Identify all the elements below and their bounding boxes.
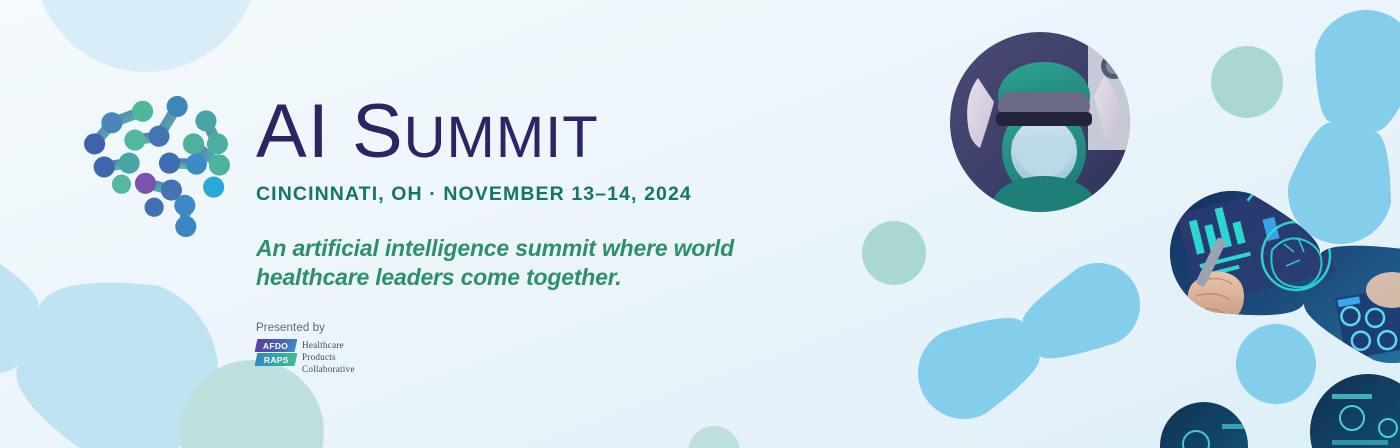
ai-summit-brain-network-logo bbox=[82, 94, 232, 238]
logo-node bbox=[112, 175, 131, 194]
presented-by-label: Presented by bbox=[256, 322, 916, 334]
logo-node bbox=[183, 133, 204, 154]
logo-node bbox=[94, 156, 115, 177]
logo-node bbox=[174, 195, 195, 216]
logo-node bbox=[148, 126, 169, 147]
logo-node bbox=[101, 112, 122, 133]
logo-node bbox=[132, 101, 153, 122]
presenter-name-line1: Healthcare bbox=[302, 340, 355, 352]
photo-surgeon-vr-headset bbox=[950, 32, 1134, 236]
ai-summit-banner: AI SUMMIT CINCINNATI, OH · NOVEMBER 13–1… bbox=[0, 0, 1400, 448]
title-summit-rest: UMMIT bbox=[404, 105, 599, 170]
logo-node bbox=[195, 110, 216, 131]
logo-node bbox=[167, 96, 188, 117]
logo-node bbox=[135, 173, 156, 194]
presenter-badges: AFDO RAPS bbox=[256, 338, 296, 366]
title-summit-s: S bbox=[352, 89, 404, 174]
logo-node bbox=[145, 198, 164, 217]
logo-node bbox=[84, 133, 105, 154]
logo-node bbox=[186, 154, 207, 175]
logo-node bbox=[209, 154, 230, 175]
afdo-badge-label: AFDO bbox=[263, 341, 288, 351]
logo-node bbox=[207, 133, 228, 154]
presenter-name: Healthcare Products Collaborative bbox=[302, 338, 355, 375]
afdo-badge: AFDO bbox=[255, 339, 298, 352]
photo-hand-stylus-hologram bbox=[1168, 175, 1400, 368]
photo-medical-data-display bbox=[1310, 374, 1400, 448]
presenter-name-line2: Products bbox=[302, 352, 355, 364]
presenter-logo[interactable]: AFDO RAPS Healthcare Products Collaborat… bbox=[256, 338, 916, 375]
title-ai: AI bbox=[256, 89, 330, 174]
banner-text-block: AI SUMMIT CINCINNATI, OH · NOVEMBER 13–1… bbox=[256, 96, 916, 376]
event-tagline: An artificial intelligence summit where … bbox=[256, 234, 756, 292]
photo-tech-circle-bottom bbox=[1158, 400, 1252, 448]
logo-node bbox=[175, 216, 196, 237]
raps-badge-label: RAPS bbox=[264, 355, 289, 365]
raps-badge: RAPS bbox=[255, 353, 298, 366]
presented-by-block: Presented by AFDO RAPS Healthcare Produc… bbox=[256, 322, 916, 375]
logo-node bbox=[203, 177, 224, 198]
logo-node bbox=[119, 153, 140, 174]
presenter-name-line3: Collaborative bbox=[302, 364, 355, 376]
event-location-date: CINCINNATI, OH · NOVEMBER 13–14, 2024 bbox=[256, 183, 916, 206]
logo-node bbox=[124, 130, 145, 151]
page-title: AI SUMMIT bbox=[256, 96, 916, 169]
logo-node bbox=[159, 153, 180, 174]
